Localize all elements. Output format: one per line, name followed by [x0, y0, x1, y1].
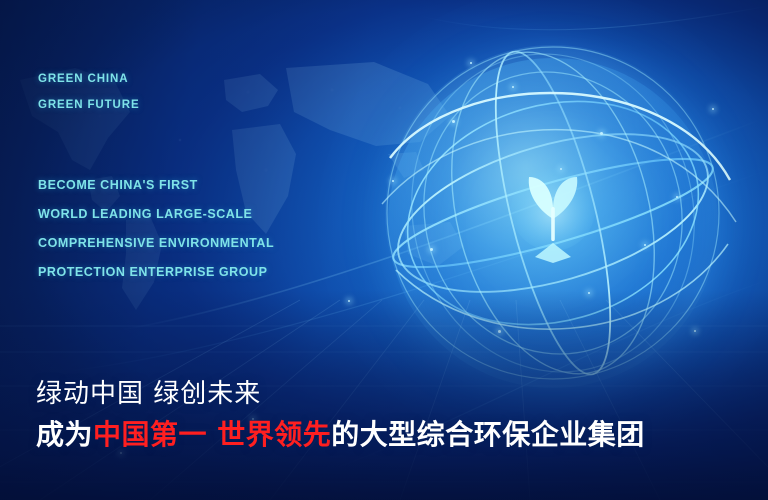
statement-line-1: BECOME CHINA'S FIRST — [38, 171, 338, 200]
tagline-line-2: GREEN FUTURE — [38, 92, 338, 118]
headline-suffix: 的大型综合环保企业集团 — [331, 418, 645, 451]
headline-accent: 中国第一 世界领先 — [93, 418, 331, 451]
headline-prefix: 成为 — [36, 418, 93, 451]
chinese-headline-2: 成为中国第一 世界领先的大型综合环保企业集团 — [36, 414, 736, 456]
statement-line-3: COMPREHENSIVE ENVIRONMENTAL — [38, 229, 338, 258]
english-statement: BECOME CHINA'S FIRST WORLD LEADING LARGE… — [38, 171, 338, 287]
chinese-headline-1: 绿动中国 绿创未来 — [36, 374, 736, 414]
english-copy-block: GREEN CHINA GREEN FUTURE BECOME CHINA'S … — [38, 66, 338, 287]
hero-banner: GREEN CHINA GREEN FUTURE BECOME CHINA'S … — [0, 0, 768, 500]
statement-line-2: WORLD LEADING LARGE-SCALE — [38, 200, 338, 229]
statement-line-4: PROTECTION ENTERPRISE GROUP — [38, 258, 338, 287]
chinese-copy-block: 绿动中国 绿创未来 成为中国第一 世界领先的大型综合环保企业集团 — [36, 374, 736, 456]
tagline-line-1: GREEN CHINA — [38, 66, 338, 92]
